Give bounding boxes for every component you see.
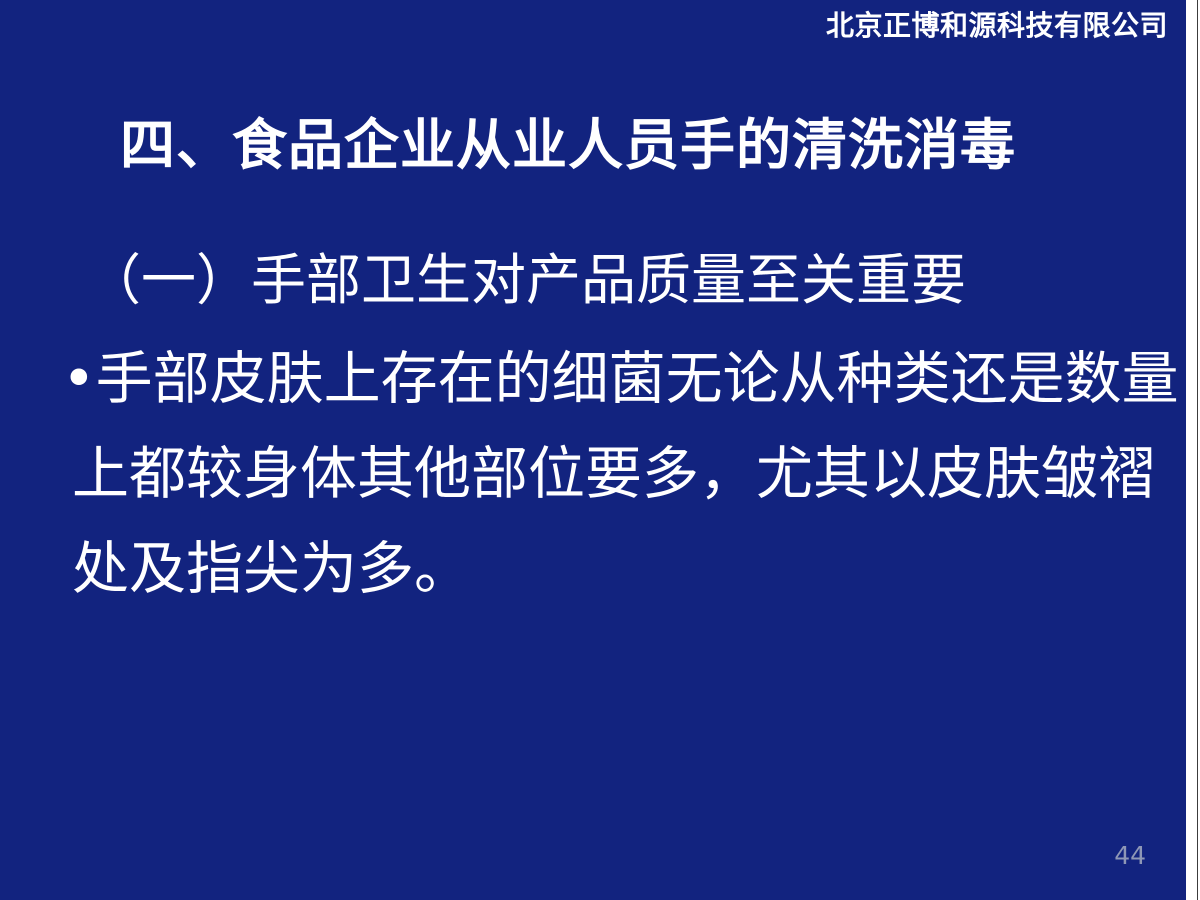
slide-body: （一）手部卫生对产品质量至关重要 •手部皮肤上存在的细菌无论从种类还是数量 上都…: [62, 228, 1162, 617]
slide-header: 北京正博和源科技有限公司: [0, 4, 1186, 48]
body-bullet-line-3: 处及指尖为多。: [62, 522, 1162, 617]
page-title: 四、食品企业从业人员手的清洗消毒: [120, 115, 1160, 177]
body-section-heading: （一）手部卫生对产品质量至关重要: [62, 228, 1162, 332]
presentation-slide: 北京正博和源科技有限公司 四、食品企业从业人员手的清洗消毒 （一）手部卫生对产品…: [0, 0, 1200, 900]
body-bullet-line-1: •手部皮肤上存在的细菌无论从种类还是数量: [62, 332, 1162, 427]
company-name-label: 北京正博和源科技有限公司: [826, 12, 1168, 40]
slide-right-edge-rule: [1197, 0, 1198, 900]
page-number-label: 44: [1114, 843, 1146, 868]
slide-surface: 北京正博和源科技有限公司 四、食品企业从业人员手的清洗消毒 （一）手部卫生对产品…: [0, 0, 1186, 900]
body-bullet-line-2: 上都较身体其他部位要多，尤其以皮肤皱褶: [62, 427, 1162, 522]
